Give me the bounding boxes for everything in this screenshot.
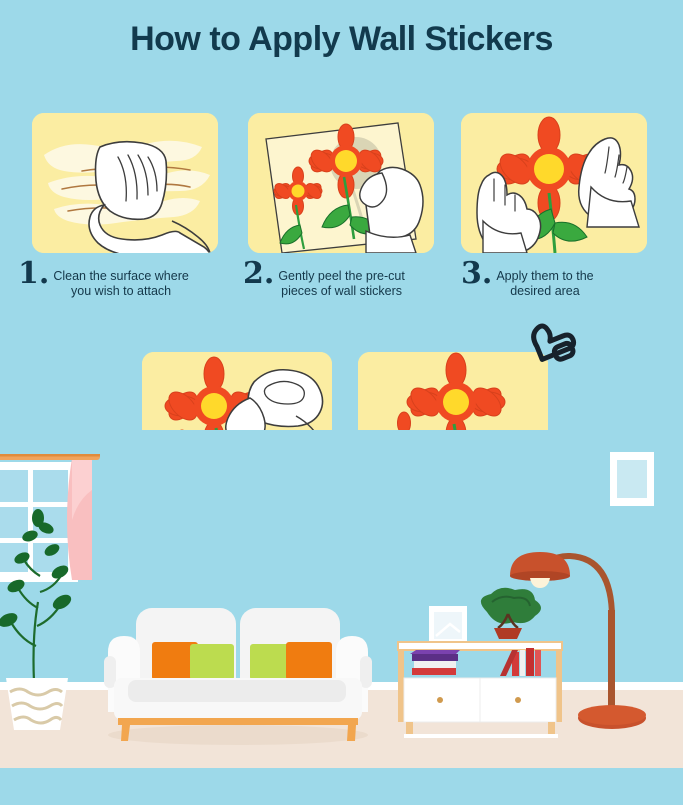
step-2: 2. Gently peel the pre-cut pieces of wal… xyxy=(248,113,434,303)
window xyxy=(0,454,100,582)
step-1-illustration xyxy=(32,113,218,253)
step-3-text: Apply them to the desired area xyxy=(496,261,593,299)
page-title: How to Apply Wall Stickers xyxy=(0,20,683,59)
infographic-root: How to Apply Wall Stickers xyxy=(0,0,683,800)
step-2-illustration xyxy=(248,113,434,253)
wall-picture-frame xyxy=(610,452,654,506)
step-2-caption: 2. Gently peel the pre-cut pieces of wal… xyxy=(243,261,443,299)
step-3-caption: 3. Apply them to the desired area xyxy=(461,261,647,299)
step-1-text: Clean the surface where you wish to atta… xyxy=(53,261,189,299)
step-3: 3. Apply them to the desired area xyxy=(461,113,647,303)
step-3-number: 3. xyxy=(461,261,492,287)
thumbs-up-icon xyxy=(518,316,580,378)
step-3-illustration xyxy=(461,113,647,253)
step-1-caption: 1. Clean the surface where you wish to a… xyxy=(18,261,228,299)
step-2-number: 2. xyxy=(243,261,274,287)
room-scene xyxy=(0,430,683,800)
step-1: 1. Clean the surface where you wish to a… xyxy=(32,113,218,303)
step-1-number: 1. xyxy=(18,261,49,287)
step-2-text: Gently peel the pre-cut pieces of wall s… xyxy=(278,261,404,299)
